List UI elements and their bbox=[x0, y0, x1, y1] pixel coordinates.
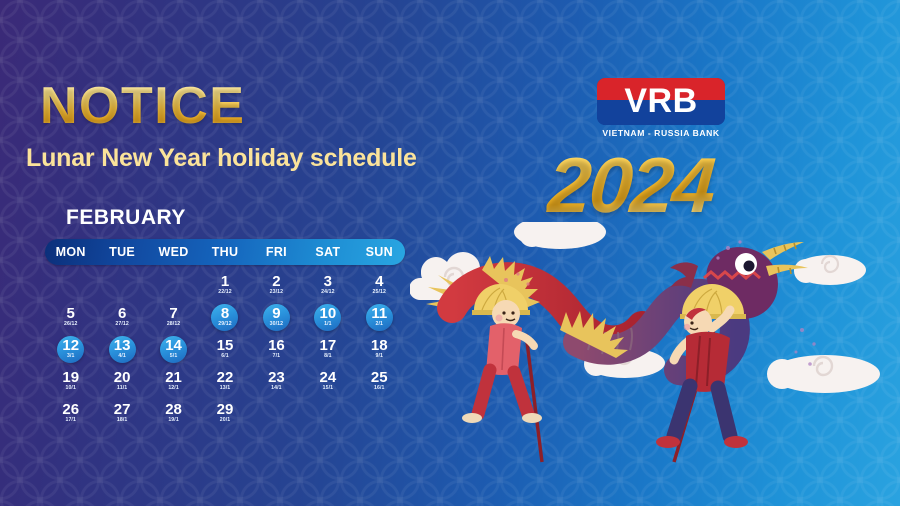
child-dancer-front bbox=[462, 284, 542, 462]
day-number: 22 bbox=[217, 370, 234, 385]
day-number: 3 bbox=[324, 274, 332, 289]
calendar-day[interactable]: 156/1 bbox=[199, 333, 250, 365]
lunar-date-label: 1/1 bbox=[324, 322, 332, 327]
lunar-date-label: 19/1 bbox=[168, 418, 179, 423]
calendar-cell-empty bbox=[45, 269, 96, 301]
calendar-day[interactable]: 2516/1 bbox=[354, 365, 405, 397]
calendar-month-label: FEBRUARY bbox=[66, 206, 186, 230]
day-number: 14 bbox=[165, 338, 182, 353]
day-number: 1 bbox=[221, 274, 229, 289]
lunar-date-label: 6/1 bbox=[221, 354, 229, 359]
calendar-cell-empty bbox=[148, 269, 199, 301]
weekday-tue: TUE bbox=[96, 245, 147, 259]
lunar-date-label: 18/1 bbox=[117, 418, 128, 423]
calendar-day[interactable]: 2819/1 bbox=[148, 397, 199, 429]
lunar-date-label: 27/12 bbox=[115, 322, 128, 327]
day-number: 25 bbox=[371, 370, 388, 385]
day-number: 23 bbox=[268, 370, 285, 385]
day-number: 29 bbox=[217, 402, 234, 417]
cloud-icon bbox=[514, 222, 606, 249]
calendar-day[interactable]: 526/12 bbox=[45, 301, 96, 333]
day-number: 8 bbox=[221, 306, 229, 321]
calendar-day[interactable]: 2213/1 bbox=[199, 365, 250, 397]
day-number: 6 bbox=[118, 306, 126, 321]
lunar-date-label: 5/1 bbox=[170, 354, 178, 359]
day-number: 10 bbox=[320, 306, 337, 321]
calendar-day[interactable]: 167/1 bbox=[251, 333, 302, 365]
calendar-day[interactable]: 189/1 bbox=[354, 333, 405, 365]
logo-tagline: VIETNAM - RUSSIA BANK bbox=[597, 128, 725, 138]
vrb-logo: VRB VIETNAM - RUSSIA BANK bbox=[597, 78, 725, 138]
day-number: 17 bbox=[320, 338, 337, 353]
day-number: 7 bbox=[169, 306, 177, 321]
lunar-date-label: 2/1 bbox=[376, 322, 384, 327]
calendar-day[interactable]: 425/12 bbox=[354, 269, 405, 301]
calendar-day-holiday[interactable]: 145/1 bbox=[148, 333, 199, 365]
calendar-day-holiday[interactable]: 101/1 bbox=[302, 301, 353, 333]
day-number: 2 bbox=[272, 274, 280, 289]
calendar-day[interactable]: 2718/1 bbox=[96, 397, 147, 429]
year-heading: 2024 bbox=[545, 140, 717, 231]
day-number: 28 bbox=[165, 402, 182, 417]
calendar-day[interactable]: 2011/1 bbox=[96, 365, 147, 397]
lunar-date-label: 24/12 bbox=[321, 290, 334, 295]
weekday-thu: THU bbox=[199, 245, 250, 259]
calendar-day[interactable]: 178/1 bbox=[302, 333, 353, 365]
page-subtitle: Lunar New Year holiday schedule bbox=[26, 144, 417, 173]
lunar-date-label: 11/1 bbox=[117, 386, 127, 391]
lunar-date-label: 29/12 bbox=[218, 322, 231, 327]
day-number: 15 bbox=[217, 338, 234, 353]
calendar-day[interactable]: 2920/1 bbox=[199, 397, 250, 429]
page-title: NOTICE bbox=[40, 76, 245, 136]
calendar-day[interactable]: 2314/1 bbox=[251, 365, 302, 397]
cloud-icon bbox=[794, 255, 866, 285]
lunar-date-label: 7/1 bbox=[273, 354, 281, 359]
calendar-day-holiday[interactable]: 112/1 bbox=[354, 301, 405, 333]
calendar-day[interactable]: 2112/1 bbox=[148, 365, 199, 397]
lunar-date-label: 22/12 bbox=[218, 290, 231, 295]
calendar-day[interactable]: 223/12 bbox=[251, 269, 302, 301]
day-number: 26 bbox=[62, 402, 79, 417]
lunar-new-year-notice-poster: NOTICE Lunar New Year holiday schedule F… bbox=[0, 0, 900, 506]
day-number: 11 bbox=[371, 306, 387, 321]
weekday-sat: SAT bbox=[302, 245, 353, 259]
calendar-day[interactable]: 122/12 bbox=[199, 269, 250, 301]
day-number: 24 bbox=[320, 370, 337, 385]
calendar-day[interactable]: 1910/1 bbox=[45, 365, 96, 397]
day-number: 5 bbox=[67, 306, 75, 321]
dragon-dance-illustration bbox=[410, 222, 900, 506]
day-number: 27 bbox=[114, 402, 131, 417]
calendar-day[interactable]: 324/12 bbox=[302, 269, 353, 301]
lunar-date-label: 9/1 bbox=[376, 354, 384, 359]
day-number: 20 bbox=[114, 370, 131, 385]
weekday-sun: SUN bbox=[354, 245, 405, 259]
lunar-date-label: 28/12 bbox=[167, 322, 180, 327]
calendar-day[interactable]: 728/12 bbox=[148, 301, 199, 333]
lunar-date-label: 3/1 bbox=[67, 354, 75, 359]
calendar-day-holiday[interactable]: 930/12 bbox=[251, 301, 302, 333]
day-number: 12 bbox=[62, 338, 79, 353]
day-number: 21 bbox=[165, 370, 182, 385]
weekday-fri: FRI bbox=[251, 245, 302, 259]
lunar-date-label: 20/1 bbox=[220, 418, 231, 423]
calendar-day[interactable]: 2617/1 bbox=[45, 397, 96, 429]
lunar-date-label: 17/1 bbox=[65, 418, 76, 423]
lunar-date-label: 16/1 bbox=[374, 386, 385, 391]
lunar-date-label: 4/1 bbox=[118, 354, 126, 359]
calendar-day-grid: 122/12223/12324/12425/12526/12627/12728/… bbox=[45, 269, 405, 429]
lunar-date-label: 8/1 bbox=[324, 354, 332, 359]
lunar-date-label: 23/12 bbox=[270, 290, 283, 295]
day-number: 18 bbox=[371, 338, 388, 353]
calendar-weekday-header: MONTUEWEDTHUFRISATSUN bbox=[45, 239, 405, 265]
lunar-date-label: 13/1 bbox=[220, 386, 231, 391]
day-number: 19 bbox=[62, 370, 79, 385]
calendar-day[interactable]: 2415/1 bbox=[302, 365, 353, 397]
logo-mark-text: VRB bbox=[597, 78, 725, 125]
day-number: 4 bbox=[375, 274, 383, 289]
day-number: 9 bbox=[272, 306, 280, 321]
lunar-date-label: 12/1 bbox=[168, 386, 179, 391]
lunar-date-label: 30/12 bbox=[270, 322, 283, 327]
day-number: 16 bbox=[268, 338, 285, 353]
lunar-date-label: 26/12 bbox=[64, 322, 77, 327]
lunar-date-label: 25/12 bbox=[373, 290, 386, 295]
lunar-date-label: 14/1 bbox=[271, 386, 282, 391]
calendar-day-holiday[interactable]: 829/12 bbox=[199, 301, 250, 333]
february-calendar: MONTUEWEDTHUFRISATSUN 122/12223/12324/12… bbox=[45, 239, 405, 429]
calendar-cell-empty bbox=[96, 269, 147, 301]
weekday-wed: WED bbox=[148, 245, 199, 259]
cloud-icon bbox=[767, 355, 880, 393]
vrb-logo-badge: VRB bbox=[597, 78, 725, 125]
lunar-date-label: 10/1 bbox=[65, 386, 76, 391]
calendar-day-holiday[interactable]: 134/1 bbox=[96, 333, 147, 365]
weekday-mon: MON bbox=[45, 245, 96, 259]
calendar-day[interactable]: 627/12 bbox=[96, 301, 147, 333]
lunar-date-label: 15/1 bbox=[323, 386, 334, 391]
day-number: 13 bbox=[114, 338, 131, 353]
calendar-day-holiday[interactable]: 123/1 bbox=[45, 333, 96, 365]
